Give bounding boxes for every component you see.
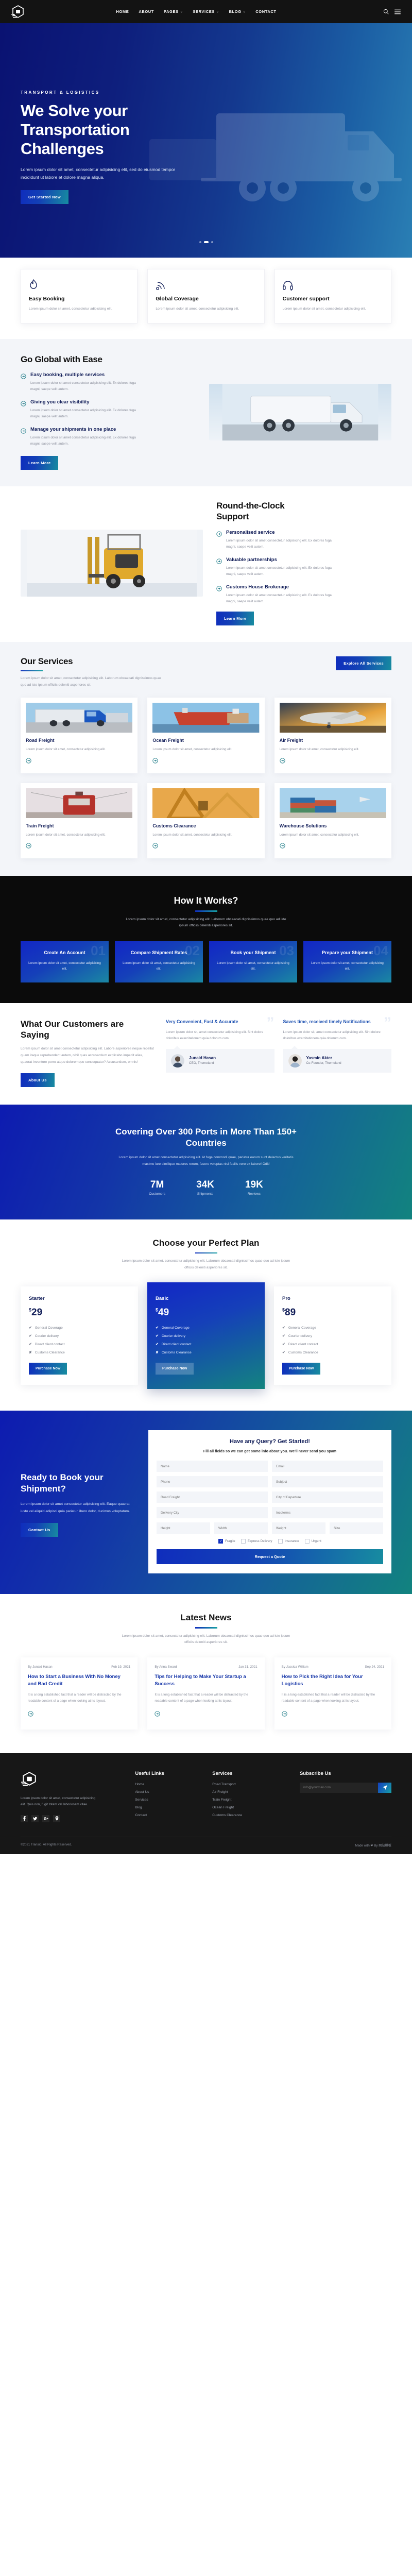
freight-type-select[interactable] [157,1492,268,1503]
learn-more-button[interactable]: Learn More [216,612,254,625]
feature-desc: Lorem ipsum dolor sit amet, consectetur … [29,306,129,312]
go-global-section: Go Global with Ease Easy booking, multip… [0,339,412,486]
containers-photo [280,788,386,818]
news-desc: Lorem ipsum dolor sit amet, consectetur … [121,1633,291,1646]
crane-sunset-photo [152,788,259,818]
list-item: Customs House BrokerageLorem ipsum dolor… [216,584,391,605]
plan-feature: ✔Courier delivery [156,1334,256,1338]
service-desc: Lorem ipsum dolor sit amet, consectetur … [26,747,132,752]
pricing-card-starter[interactable]: Starter $29 ✔General Coverage ✔Courier d… [21,1286,138,1385]
post-title: Tips for Helping to Make Your Startup a … [154,1673,257,1688]
feature-card[interactable]: Customer support Lorem ipsum dolor sit a… [274,269,391,324]
subject-input[interactable] [272,1476,383,1487]
check-icon: ✔ [282,1342,285,1346]
testimonial-title: Very Convenient, Fast & Accurate [166,1019,274,1025]
go-global-image [209,384,391,440]
pricing-title: Choose your Perfect Plan [21,1238,391,1248]
social-links [21,1815,126,1822]
post-title: How to Pick the Right Idea for Your Logi… [282,1673,384,1688]
subscribe-submit-button[interactable] [378,1783,391,1793]
nav-item-about[interactable]: ABOUT [139,9,154,14]
post-excerpt: It is a long established fact that a rea… [282,1692,384,1704]
footer-service-train-freight[interactable]: Train Freight [212,1798,290,1802]
services-section: Our Services Lorem ipsum dolor sit amet,… [0,642,412,876]
service-desc: Lorem ipsum dolor sit amet, consectetur … [280,832,386,838]
form-subtitle: Fill all fields so we can get some info … [157,1448,383,1454]
stat-value: 19K [245,1179,263,1191]
cta-desc: Lorem ipsum dolor sit amet consectetur a… [21,1501,136,1515]
item-title: Giving you clear visibility [30,399,141,405]
service-title: Warehouse Solutions [280,823,386,828]
footer-service-ocean-freight[interactable]: Ocean Freight [212,1806,290,1809]
author-name: Junaid Hasan [189,1056,216,1060]
column-title: Subscribe Us [300,1771,391,1776]
white-truck-photo [209,384,391,440]
check-icon: ✔ [156,1326,159,1330]
service-title: Train Freight [26,823,132,828]
item-title: Easy booking, multiple services [30,372,141,378]
nav-item-pages[interactable]: PAGES⌄ [164,9,183,14]
avatar [288,1054,302,1067]
check-icon: ✔ [282,1350,285,1354]
post-author: By Junaid Hasan [28,1665,53,1669]
feature-desc: Lorem ipsum dolor sit amet, consectetur … [283,306,383,312]
name-input[interactable] [157,1461,268,1472]
weight-input[interactable] [272,1522,325,1534]
footer-services: Services Road Transport Air Freight Trai… [212,1771,290,1822]
step-title: Prepare your Shipment [310,950,385,956]
plan-feature: ✘Customs Clearance [156,1350,256,1354]
blue-truck-photo [26,703,132,733]
stat-item: 19KReviews [245,1179,263,1196]
testimonial-author: Junaid HasanCEO, Themeland [166,1049,274,1073]
testimonial-title: Saves time, received timely Notification… [283,1019,392,1025]
how-it-works-desc: Lorem ipsum dolor sit amet, consectetur … [121,917,291,929]
plan-feature: ✔Direct client contact [29,1342,130,1346]
logo-icon[interactable] [11,5,25,19]
feature-title: Easy Booking [29,296,129,302]
arrow-circle-icon [216,530,222,550]
service-desc: Lorem ipsum dolor sit amet, consectetur … [152,747,259,752]
about-us-button[interactable]: About Us [21,1073,55,1087]
stat-item: 7MCustomers [149,1179,165,1196]
item-title: Personalised service [226,530,337,535]
carousel-dot[interactable] [199,241,201,243]
check-icon: ✔ [282,1326,285,1330]
list-item: Easy booking, multiple servicesLorem ips… [21,372,196,393]
post-author: By Anna Sward [154,1665,177,1669]
plan-feature: ✔Courier delivery [282,1334,383,1338]
price-amount: 89 [285,1307,296,1318]
feature-cards-section: Easy Booking Lorem ipsum dolor sit amet,… [0,258,412,339]
item-desc: Lorem ipsum dolor sit amet consectetur a… [226,538,337,550]
plan-name: Basic [156,1296,256,1301]
footer-logo-icon[interactable] [21,1771,126,1790]
latest-news-section: Latest News Lorem ipsum dolor sit amet, … [0,1594,412,1753]
item-title: Valuable partnerships [226,557,337,563]
plan-price: $29 [29,1307,130,1318]
title-underline [195,1252,217,1254]
author-role: CEO, Themeland [189,1061,216,1066]
feature-title: Global Coverage [156,296,256,302]
post-excerpt: It is a long established fact that a rea… [28,1692,130,1704]
list-item: Personalised serviceLorem ipsum dolor si… [216,530,391,550]
pricing-grid: Starter $29 ✔General Coverage ✔Courier d… [21,1282,391,1389]
plan-price: $49 [156,1307,256,1318]
chevron-down-icon: ⌄ [243,10,246,13]
forklift-image [21,530,203,597]
footer-service-customs-clearance[interactable]: Customs Clearance [212,1814,290,1817]
post-date: Sep 24, 2021 [365,1665,384,1669]
plan-feature: ✔General Coverage [156,1326,256,1330]
service-title: Air Freight [280,738,386,743]
how-step-card[interactable]: 04 Prepare your Shipment Lorem ipsum dol… [303,941,391,982]
explore-all-services-button[interactable]: Explore All Services [336,656,391,670]
checkbox-icon[interactable] [305,1539,310,1544]
testimonials-section: What Our Customers are Saying Lorem ipsu… [0,1003,412,1105]
step-desc: Lorem ipsum dolor sit amet, consectetur … [121,960,197,972]
get-started-button[interactable]: Get Started Now [21,190,68,204]
signal-icon [156,278,256,291]
arrow-circle-icon[interactable] [152,842,158,851]
service-card[interactable]: Ocean Freight Lorem ipsum dolor sit amet… [147,698,264,773]
item-title: Manage your shipments in one place [30,427,141,432]
service-card[interactable]: Air Freight Lorem ipsum dolor sit amet, … [274,698,391,773]
google-plus-icon[interactable] [42,1815,49,1822]
purchase-now-button[interactable]: Purchase Now [29,1363,67,1375]
checkbox-icon[interactable] [241,1539,246,1544]
twitter-icon[interactable] [31,1815,39,1822]
arrow-circle-icon[interactable] [282,1710,287,1719]
footer-service-road-transport[interactable]: Road Transport [212,1783,290,1786]
column-title: Services [212,1771,290,1776]
column-title: Useful Links [135,1771,203,1776]
post-excerpt: It is a long established fact that a rea… [154,1692,257,1704]
subscribe-email-input[interactable] [300,1783,378,1793]
hero-description: Lorem ipsum dolor sit amet, consectetur … [21,166,175,181]
service-title: Customs Clearance [152,823,259,828]
list-item: Giving you clear visibilityLorem ipsum d… [21,399,196,420]
round-the-clock-list: Personalised serviceLorem ipsum dolor si… [216,530,391,605]
how-step-card[interactable]: 02 Compare Shipment Rates Lorem ipsum do… [115,941,203,982]
stat-value: 34K [196,1179,214,1191]
service-card[interactable]: Train Freight Lorem ipsum dolor sit amet… [21,783,138,858]
footer-link-contact[interactable]: Contact [135,1814,203,1817]
red-train-photo [26,788,132,818]
plan-feature: ✘Customs Clearance [29,1350,130,1354]
copyright: ©2021 Transio, All Rights Reserved. [21,1843,72,1848]
plan-feature: ✔General Coverage [282,1326,383,1330]
services-grid: Road Freight Lorem ipsum dolor sit amet,… [21,698,391,858]
checkbox-urgent[interactable]: Urgent [305,1539,321,1544]
plan-feature: ✔Direct client contact [282,1342,383,1346]
height-input[interactable] [157,1522,210,1534]
chevron-down-icon: ⌄ [180,10,183,13]
check-icon: ✔ [282,1334,285,1338]
arrow-circle-icon[interactable] [28,1710,33,1719]
how-step-card[interactable]: 01 Create An Account Lorem ipsum dolor s… [21,941,109,982]
how-it-works-section: How It Works? Lorem ipsum dolor sit amet… [0,876,412,1003]
city-of-departure-input[interactable] [272,1492,383,1503]
title-underline [21,670,43,672]
service-card[interactable]: Customs Clearance Lorem ipsum dolor sit … [147,783,264,858]
testimonial-author: Yasmin AkterCo-Founder, Themeland [283,1049,392,1073]
plan-feature: ✔General Coverage [29,1326,130,1330]
testimonial-body: Lorem ipsum dolor sit, amet consectetur … [283,1029,392,1042]
testimonials-title: What Our Customers are Saying [21,1019,154,1041]
cta-form-section: Ready to Book your Shipment? Lorem ipsum… [0,1411,412,1594]
footer-link-home[interactable]: Home [135,1783,203,1786]
post-date: Feb 19, 2021 [111,1665,130,1669]
service-desc: Lorem ipsum dolor sit amet, consectetur … [280,747,386,752]
item-desc: Lorem ipsum dolor sit amet consectetur a… [226,592,337,605]
footer-service-air-freight[interactable]: Air Freight [212,1790,290,1794]
nav-item-home[interactable]: HOME [116,9,129,14]
go-global-title: Go Global with Ease [21,354,196,365]
plan-name: Starter [29,1296,130,1301]
nav-item-services[interactable]: SERVICES⌄ [193,9,219,14]
flame-icon [29,278,129,291]
stats-row: 7MCustomers 34KShipments 19KReviews [21,1179,391,1196]
round-the-clock-section: Round-the-Clock Support Personalised ser… [0,486,412,642]
check-icon: ✔ [156,1342,159,1346]
testimonials-intro: What Our Customers are Saying Lorem ipsu… [21,1019,154,1087]
site-footer: Lorem ipsum dolor sit amet, consectetur … [0,1753,412,1854]
chevron-down-icon: ⌄ [216,10,219,13]
footer-brand: Lorem ipsum dolor sit amet, consectetur … [21,1771,126,1822]
step-desc: Lorem ipsum dolor sit amet, consectetur … [310,960,385,972]
service-title: Ocean Freight [152,738,259,743]
footer-subscribe: Subscribe Us [300,1771,391,1822]
main-nav[interactable]: HOME ABOUT PAGES⌄ SERVICES⌄ BLOG⌄ CONTAC… [116,9,276,14]
feature-title: Customer support [283,296,383,302]
service-title: Road Freight [26,738,132,743]
plan-feature: ✔Direct client contact [156,1342,256,1346]
checkbox-icon[interactable] [218,1539,223,1544]
checkbox-express-delivery[interactable]: Express Delivery [241,1539,272,1544]
news-card[interactable]: By Anna SwardJan 31, 2021 Tips for Helpi… [147,1657,264,1730]
step-title: Create An Account [27,950,102,956]
request-quote-button[interactable]: Request a Quote [157,1549,383,1564]
footer-useful-links: Useful Links Home About Us Services Blog… [135,1771,203,1822]
footer-link-services[interactable]: Services [135,1798,203,1802]
cta-title: Ready to Book your Shipment? [21,1472,136,1495]
nav-item-contact[interactable]: CONTACT [255,9,276,14]
news-grid: By Junaid HasanFeb 19, 2021 How to Start… [21,1657,391,1730]
pricing-desc: Lorem ipsum dolor sit amet, consectetur … [121,1258,291,1271]
send-icon [383,1785,387,1790]
phone-input[interactable] [157,1476,268,1487]
footer-link-about[interactable]: About Us [135,1790,203,1794]
search-icon[interactable] [383,9,389,14]
airplane-sunset-photo [280,703,386,733]
post-date: Jan 31, 2021 [238,1665,257,1669]
vine-icon[interactable] [53,1815,60,1822]
headset-icon [283,278,383,291]
carousel-dot[interactable] [211,241,213,243]
arrow-circle-icon [216,585,222,605]
hero-carousel-dots[interactable] [0,241,412,243]
counters-desc: Lorem ipsum dolor sit amet consectetur a… [116,1155,296,1168]
delivery-city-input[interactable] [157,1507,268,1518]
forklift-photo [21,530,203,597]
hero-kicker: TRANSPORT & LOGISTICS [21,90,391,95]
feature-desc: Lorem ipsum dolor sit amet, consectetur … [156,306,256,312]
check-icon: ✔ [29,1326,32,1330]
item-desc: Lorem ipsum dolor sit amet consectetur a… [30,408,141,420]
feature-card[interactable]: Easy Booking Lorem ipsum dolor sit amet,… [21,269,138,324]
step-desc: Lorem ipsum dolor sit amet, consectetur … [27,960,102,972]
learn-more-button[interactable]: Learn More [21,456,58,470]
news-card[interactable]: By Jassica WilliamSep 24, 2021 How to Pi… [274,1657,391,1730]
hero-section: TRANSPORT & LOGISTICS We Solve your Tran… [0,23,412,258]
how-step-card[interactable]: 03 Book your Shipment Lorem ipsum dolor … [209,941,297,982]
cross-icon: ✘ [156,1350,159,1354]
arrow-circle-icon [21,372,26,393]
post-author: By Jassica William [282,1665,308,1669]
form-title: Have any Query? Get Started! [157,1438,383,1445]
price-amount: 29 [31,1307,42,1318]
stat-label: Reviews [245,1192,263,1196]
list-item: Valuable partnershipsLorem ipsum dolor s… [216,557,391,578]
width-input[interactable] [214,1522,268,1534]
round-the-clock-content: Round-the-Clock Support Personalised ser… [216,501,391,625]
item-desc: Lorem ipsum dolor sit amet consectetur a… [30,435,141,447]
checkbox-insurance[interactable]: Insurance [278,1539,299,1544]
purchase-now-button[interactable]: Purchase Now [156,1363,194,1375]
plan-price: $89 [282,1307,383,1318]
arrow-circle-icon [216,557,222,578]
size-input[interactable] [330,1522,383,1534]
author-role: Co-Founder, Themeland [306,1061,341,1066]
services-desc: Lorem ipsum dolor sit amet, consectetur … [21,675,165,688]
testimonial-card: ” Very Convenient, Fast & Accurate Lorem… [166,1019,274,1087]
arrow-circle-icon [21,400,26,420]
feature-card[interactable]: Global Coverage Lorem ipsum dolor sit am… [147,269,264,324]
service-desc: Lorem ipsum dolor sit amet, consectetur … [26,832,132,838]
contact-us-button[interactable]: Contact Us [21,1523,58,1537]
email-input[interactable] [272,1461,383,1472]
hero-title: We Solve your Transportation Challenges [21,101,196,159]
service-desc: Lorem ipsum dolor sit amet, consectetur … [152,832,259,838]
avatar [171,1054,184,1067]
check-icon: ✔ [29,1342,32,1346]
list-item: Manage your shipments in one placeLorem … [21,427,196,447]
arrow-circle-icon[interactable] [280,842,285,851]
pricing-card-basic[interactable]: Basic $49 ✔General Coverage ✔Courier del… [147,1282,265,1389]
options-checkboxes: Fragile Express Delivery Insurance Urgen… [157,1539,383,1544]
nav-item-blog[interactable]: BLOG⌄ [229,9,246,14]
checkbox-fragile[interactable]: Fragile [218,1539,235,1544]
footer-about: Lorem ipsum dolor sit amet, consectetur … [21,1795,98,1808]
purchase-now-button[interactable]: Purchase Now [282,1363,320,1375]
testimonial-card: ” Saves time, received timely Notificati… [283,1019,392,1087]
title-underline [195,910,217,912]
footer-link-blog[interactable]: Blog [135,1806,203,1809]
quote-form: Have any Query? Get Started! Fill all fi… [148,1430,391,1573]
header-actions [383,9,401,14]
red-cargo-ship-photo [152,703,259,733]
title-underline [195,1627,217,1629]
step-title: Compare Shipment Rates [121,950,197,956]
check-icon: ✔ [29,1334,32,1338]
counters-section: Covering Over 300 Ports in More Than 150… [0,1105,412,1219]
item-desc: Lorem ipsum dolor sit amet consectetur a… [226,565,337,578]
cross-icon: ✘ [29,1350,32,1354]
services-title: Our Services [21,656,165,667]
plan-name: Pro [282,1296,383,1301]
author-name: Yasmin Akter [306,1056,341,1060]
stat-value: 7M [149,1179,165,1191]
check-icon: ✔ [156,1334,159,1338]
step-desc: Lorem ipsum dolor sit amet, consectetur … [215,960,291,972]
plan-feature: ✔Customs Clearance [282,1350,383,1354]
counters-title: Covering Over 300 Ports in More Than 150… [113,1126,299,1149]
cta-copy: Ready to Book your Shipment? Lorem ipsum… [21,1467,136,1537]
plan-feature: ✔Courier delivery [29,1334,130,1338]
arrow-circle-icon[interactable] [26,757,31,766]
checkbox-icon[interactable] [278,1539,283,1544]
hamburger-menu-icon[interactable] [394,9,401,14]
incoterms-input[interactable] [272,1507,383,1518]
go-global-content: Go Global with Ease Easy booking, multip… [21,354,196,470]
arrow-circle-icon[interactable] [280,757,285,766]
price-amount: 49 [158,1307,169,1318]
site-header: HOME ABOUT PAGES⌄ SERVICES⌄ BLOG⌄ CONTAC… [0,0,412,23]
how-it-works-title: How It Works? [21,895,391,906]
testimonials-desc: Lorem ipsum dolor sit amet consectetur a… [21,1046,154,1066]
post-title: How to Start a Business With No Money an… [28,1673,130,1688]
service-card[interactable]: Warehouse Solutions Lorem ipsum dolor si… [274,783,391,858]
made-with: Made with ❤ By 网站模板 [355,1843,391,1848]
news-card[interactable]: By Junaid HasanFeb 19, 2021 How to Start… [21,1657,138,1730]
arrow-circle-icon[interactable] [26,842,31,851]
step-title: Book your Shipment [215,950,291,956]
pricing-card-pro[interactable]: Pro $89 ✔General Coverage ✔Courier deliv… [274,1286,391,1385]
arrow-circle-icon[interactable] [154,1710,160,1719]
go-global-list: Easy booking, multiple servicesLorem ips… [21,372,196,447]
testimonial-cards: ” Very Convenient, Fast & Accurate Lorem… [166,1019,391,1087]
item-desc: Lorem ipsum dolor sit amet consectetur a… [30,380,141,393]
arrow-circle-icon [21,427,26,447]
pricing-section: Choose your Perfect Plan Lorem ipsum dol… [0,1219,412,1411]
carousel-dot-active[interactable] [204,241,209,243]
facebook-icon[interactable] [21,1815,28,1822]
service-card[interactable]: Road Freight Lorem ipsum dolor sit amet,… [21,698,138,773]
testimonial-body: Lorem ipsum dolor sit, amet consectetur … [166,1029,274,1042]
stat-label: Shipments [196,1192,214,1196]
stat-item: 34KShipments [196,1179,214,1196]
how-steps-grid: 01 Create An Account Lorem ipsum dolor s… [21,941,391,982]
stat-label: Customers [149,1192,165,1196]
arrow-circle-icon[interactable] [152,757,158,766]
item-title: Customs House Brokerage [226,584,337,590]
round-the-clock-title: Round-the-Clock Support [216,501,304,522]
news-title: Latest News [21,1613,391,1623]
